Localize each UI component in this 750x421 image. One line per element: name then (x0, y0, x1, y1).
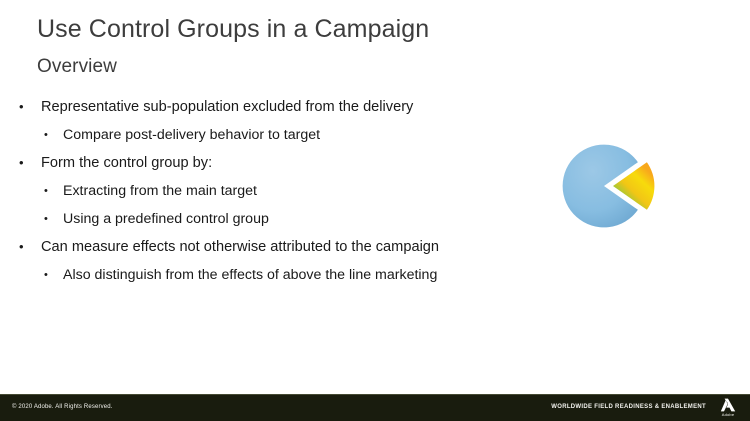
adobe-a-icon (720, 398, 736, 412)
bullet-marker-icon: • (19, 236, 41, 258)
list-item: • Form the control group by: (0, 152, 540, 177)
list-item-label: Extracting from the main target (63, 180, 257, 202)
bullet-marker-icon: • (44, 180, 63, 202)
page-title: Use Control Groups in a Campaign (37, 14, 429, 44)
page-subtitle: Overview (37, 56, 117, 79)
pie-chart-icon (558, 138, 662, 234)
bullet-list: • Representative sub-population excluded… (0, 96, 540, 292)
list-item: • Extracting from the main target (0, 180, 540, 205)
bullet-marker-icon: • (44, 124, 63, 146)
footer-bar: © 2020 Adobe. All Rights Reserved. WORLD… (0, 394, 750, 421)
list-item: • Compare post-delivery behavior to targ… (0, 124, 540, 149)
list-item: • Can measure effects not otherwise attr… (0, 236, 540, 261)
list-item: • Using a predefined control group (0, 208, 540, 233)
pie-chart-graphic (558, 138, 662, 234)
list-item-label: Also distinguish from the effects of abo… (63, 264, 437, 286)
bullet-marker-icon: • (19, 96, 41, 118)
list-item-label: Using a predefined control group (63, 208, 269, 230)
organization-text: WORLDWIDE FIELD READINESS & ENABLEMENT (551, 404, 706, 410)
slide-canvas: Use Control Groups in a Campaign Overvie… (0, 0, 750, 421)
list-item-label: Representative sub-population excluded f… (41, 96, 413, 118)
bullet-marker-icon: • (44, 208, 63, 230)
list-item-label: Form the control group by: (41, 152, 212, 174)
bullet-marker-icon: • (44, 264, 63, 286)
list-item: • Also distinguish from the effects of a… (0, 264, 540, 289)
adobe-wordmark: Adobe (722, 412, 735, 417)
bullet-marker-icon: • (19, 152, 41, 174)
copyright-text: © 2020 Adobe. All Rights Reserved. (12, 404, 113, 410)
list-item-label: Can measure effects not otherwise attrib… (41, 236, 439, 258)
list-item: • Representative sub-population excluded… (0, 96, 540, 121)
list-item-label: Compare post-delivery behavior to target (63, 124, 320, 146)
adobe-logo: Adobe (714, 398, 742, 419)
